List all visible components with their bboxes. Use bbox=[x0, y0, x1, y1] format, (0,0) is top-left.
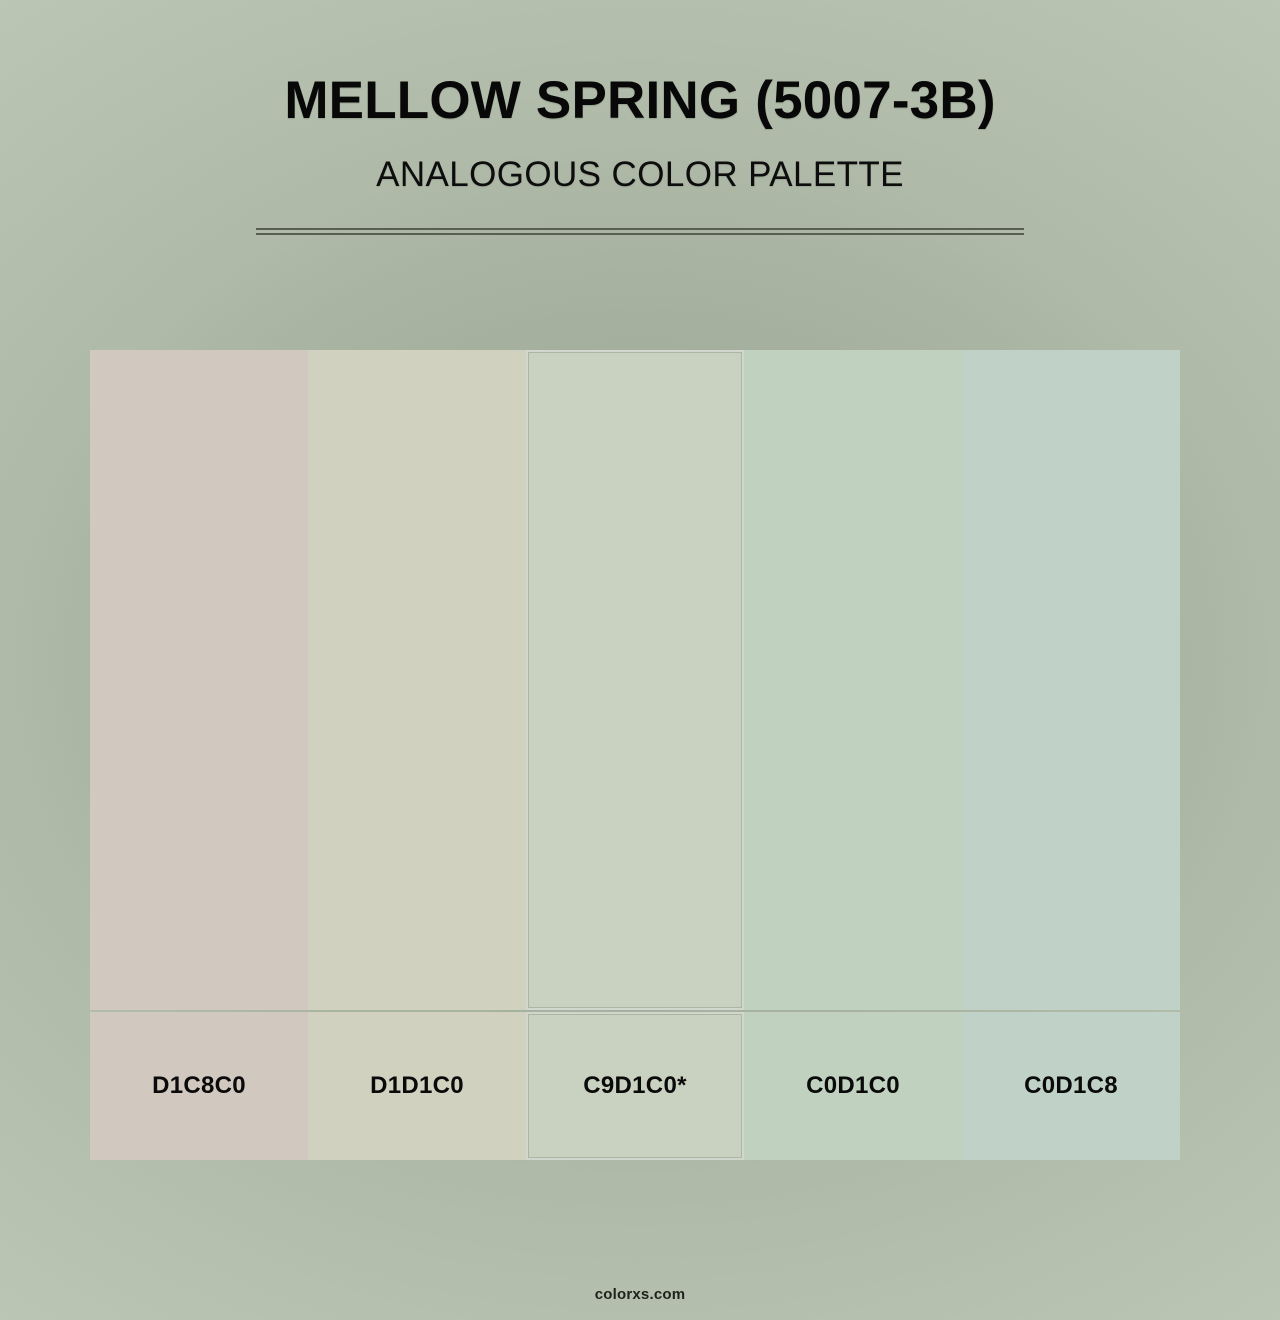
color-swatch-label-cell[interactable]: D1C8C0 bbox=[90, 1012, 308, 1160]
color-swatch[interactable] bbox=[744, 350, 962, 1010]
color-hex-label: C9D1C0* bbox=[583, 1072, 686, 1100]
color-hex-label: D1C8C0 bbox=[152, 1072, 246, 1100]
header: MELLOW SPRING (5007-3B) ANALOGOUS COLOR … bbox=[0, 0, 1280, 192]
color-swatch[interactable] bbox=[90, 350, 308, 1010]
color-swatch[interactable] bbox=[526, 350, 744, 1010]
footer: colorxs.com bbox=[0, 1286, 1280, 1304]
page-title: MELLOW SPRING (5007-3B) bbox=[0, 0, 1280, 127]
color-palette: D1C8C0D1D1C0C9D1C0*C0D1C0C0D1C8 bbox=[90, 350, 1180, 1160]
page-subtitle: ANALOGOUS COLOR PALETTE bbox=[0, 127, 1280, 192]
color-swatch[interactable] bbox=[308, 350, 526, 1010]
page-background: MELLOW SPRING (5007-3B) ANALOGOUS COLOR … bbox=[0, 0, 1280, 1320]
color-hex-label: C0D1C0 bbox=[806, 1072, 900, 1100]
color-swatch-label-cell[interactable]: C9D1C0* bbox=[526, 1012, 744, 1160]
color-swatch-label-cell[interactable]: C0D1C0 bbox=[744, 1012, 962, 1160]
divider-line-bottom bbox=[256, 233, 1024, 235]
divider-line-top bbox=[256, 228, 1024, 230]
title-divider bbox=[256, 228, 1024, 235]
color-swatch-label-cell[interactable]: C0D1C8 bbox=[962, 1012, 1180, 1160]
color-swatch[interactable] bbox=[962, 350, 1180, 1010]
swatch-row bbox=[90, 350, 1180, 1010]
color-hex-label: D1D1C0 bbox=[370, 1072, 464, 1100]
swatch-label-row: D1C8C0D1D1C0C9D1C0*C0D1C0C0D1C8 bbox=[90, 1012, 1180, 1160]
footer-site-label: colorxs.com bbox=[595, 1286, 686, 1303]
color-hex-label: C0D1C8 bbox=[1024, 1072, 1118, 1100]
color-swatch-label-cell[interactable]: D1D1C0 bbox=[308, 1012, 526, 1160]
